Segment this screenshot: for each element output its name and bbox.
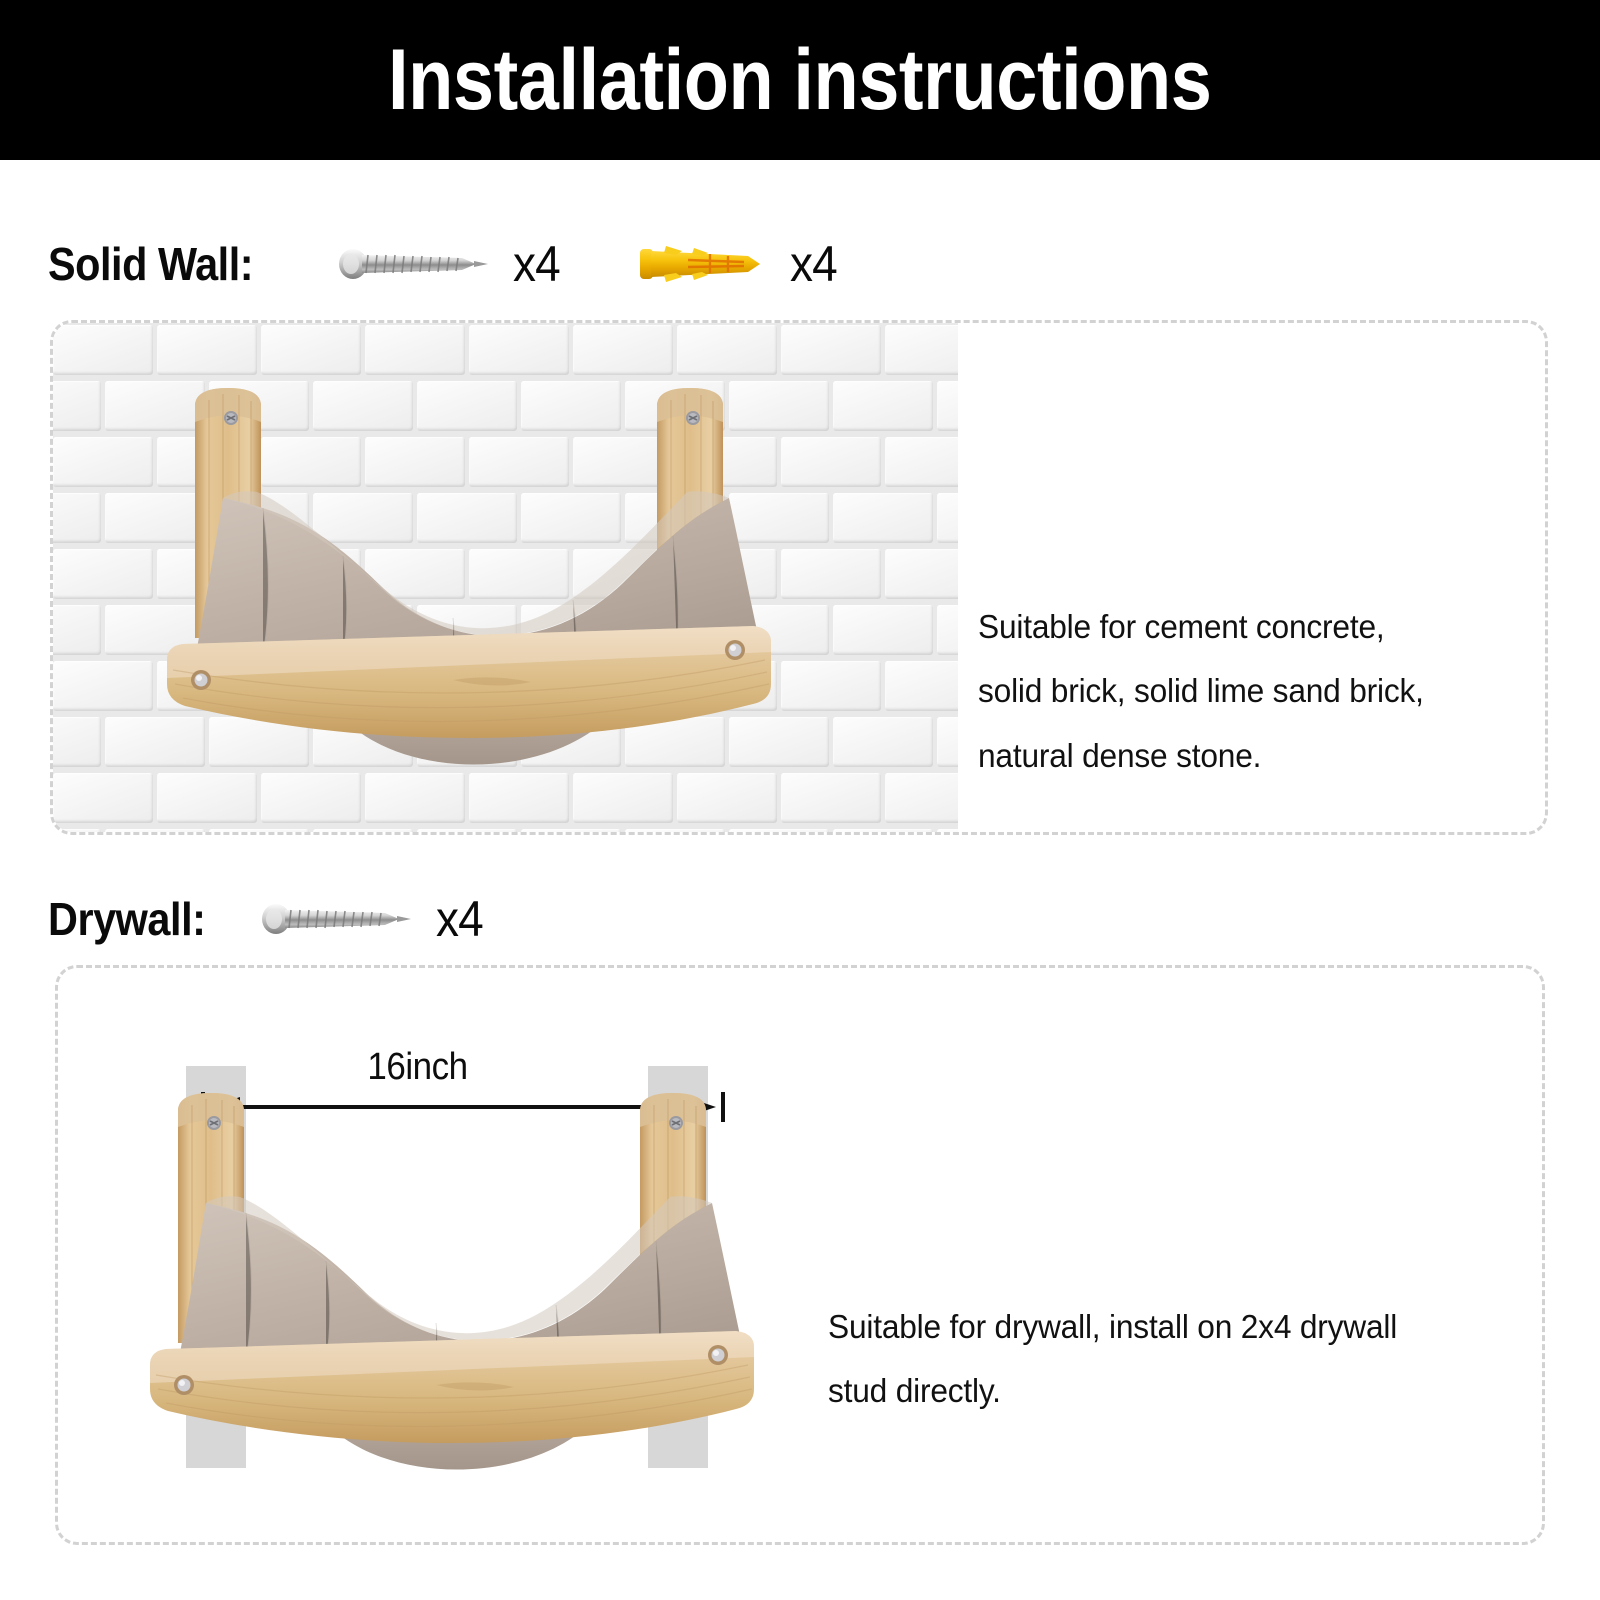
wall-tile [469, 325, 569, 375]
desc-line: natural dense stone. [978, 724, 1424, 788]
solid-wall-description: Suitable for cement concrete, solid bric… [978, 595, 1424, 788]
installation-instructions-page: Installation instructions Solid Wall: [0, 0, 1600, 1600]
wall-tile [53, 661, 153, 711]
wall-tile [53, 829, 101, 835]
wall-tile [105, 829, 205, 835]
wall-tile [937, 493, 958, 543]
wall-tile [625, 829, 725, 835]
wall-tile [833, 829, 933, 835]
wall-tile [937, 829, 958, 835]
title-banner: Installation instructions [0, 0, 1600, 160]
wall-tile [937, 717, 958, 767]
wall-tile [573, 325, 673, 375]
desc-line: stud directly. [828, 1359, 1397, 1423]
wall-tile [53, 381, 101, 431]
drywall-panel: 16inch [55, 965, 1545, 1545]
desc-line: Suitable for cement concrete, [978, 595, 1424, 659]
drywall-screw-count: x4 [436, 890, 483, 948]
wall-tile [417, 829, 517, 835]
wall-tile [313, 829, 413, 835]
wall-tile [53, 325, 153, 375]
wall-tile [261, 325, 361, 375]
wall-tile [53, 549, 153, 599]
desc-line: Suitable for drywall, install on 2x4 dry… [828, 1295, 1397, 1359]
wall-tile [937, 605, 958, 655]
page-title: Installation instructions [388, 37, 1211, 123]
solid-wall-header: Solid Wall: [48, 235, 841, 293]
cat-hammock-solid-wall [153, 388, 873, 823]
wall-tile [885, 325, 958, 375]
wall-tile [521, 829, 621, 835]
drywall-description: Suitable for drywall, install on 2x4 dry… [828, 1295, 1397, 1424]
wall-tile [937, 381, 958, 431]
wall-tile [53, 605, 101, 655]
wall-tile [885, 549, 958, 599]
wall-tile [365, 325, 465, 375]
wall-tile [53, 773, 153, 823]
screw-icon [259, 897, 414, 941]
wall-tile [885, 773, 958, 823]
desc-line: solid brick, solid lime sand brick, [978, 659, 1424, 723]
wall-anchor-icon [636, 239, 768, 289]
wall-tile [885, 661, 958, 711]
tile-row [53, 827, 958, 835]
cat-hammock-drywall [136, 1093, 856, 1528]
drywall-label: Drywall: [48, 892, 205, 946]
wall-tile [729, 829, 829, 835]
dimension-label: 16inch [367, 1046, 467, 1089]
wall-tile [209, 829, 309, 835]
wall-tile [53, 493, 101, 543]
wall-tile [53, 437, 153, 487]
wall-tile [781, 325, 881, 375]
tile-row [53, 323, 958, 379]
wall-tile [885, 437, 958, 487]
solid-wall-anchor-count: x4 [790, 235, 837, 293]
drywall-header: Drywall: [48, 890, 487, 948]
wall-tile [53, 717, 101, 767]
wall-tile [157, 325, 257, 375]
wall-tile [677, 325, 777, 375]
solid-wall-label: Solid Wall: [48, 237, 253, 291]
solid-wall-screw-count: x4 [513, 235, 560, 293]
screw-icon [336, 242, 491, 286]
